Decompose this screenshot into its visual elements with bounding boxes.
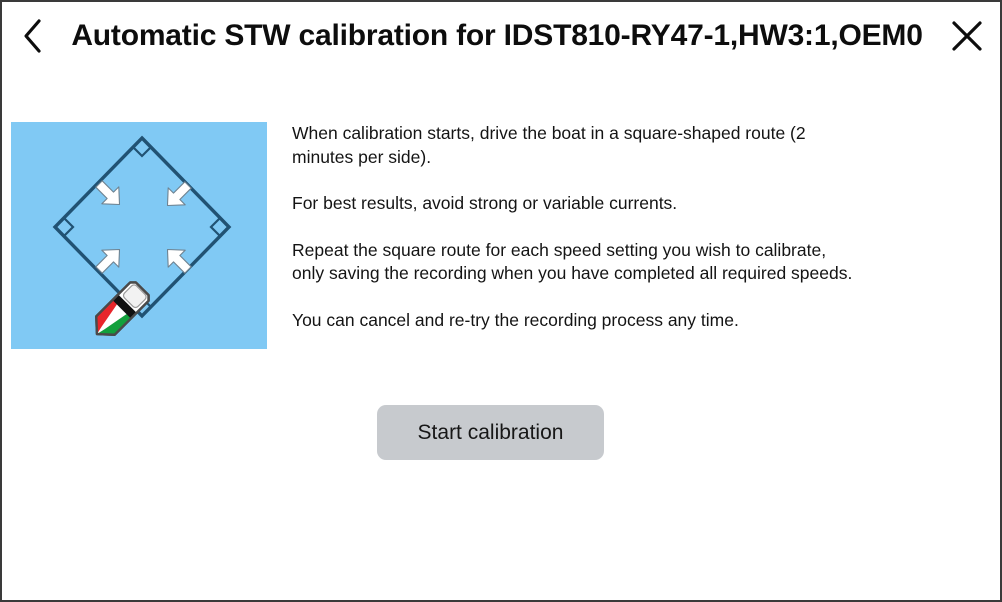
- arrow-down-right: [159, 177, 196, 214]
- instruction-paragraph-4: You can cancel and re-try the recording …: [292, 309, 862, 333]
- instruction-paragraph-3: Repeat the square route for each speed s…: [292, 239, 862, 286]
- dialog-header: Automatic STW calibration for IDST810-RY…: [2, 2, 1000, 70]
- close-x-icon: [948, 17, 986, 55]
- page-title: Automatic STW calibration for IDST810-RY…: [64, 19, 934, 53]
- arrow-up-left: [91, 241, 128, 278]
- back-button[interactable]: [2, 6, 64, 66]
- boat-icon: [87, 279, 151, 343]
- instruction-paragraph-1: When calibration starts, drive the boat …: [292, 122, 862, 169]
- start-calibration-button[interactable]: Start calibration: [377, 405, 604, 460]
- close-button[interactable]: [934, 6, 1000, 66]
- direction-arrows: [91, 176, 197, 279]
- instruction-paragraph-2: For best results, avoid strong or variab…: [292, 192, 862, 216]
- arrow-up-right: [91, 176, 128, 213]
- instructions-panel: When calibration starts, drive the boat …: [292, 122, 862, 332]
- right-angle-markers: [64, 147, 220, 307]
- square-route-boat-diagram: [11, 122, 267, 349]
- calibration-dialog-window: Automatic STW calibration for IDST810-RY…: [0, 0, 1002, 602]
- arrow-down-left: [159, 241, 196, 278]
- chevron-left-icon: [20, 16, 46, 56]
